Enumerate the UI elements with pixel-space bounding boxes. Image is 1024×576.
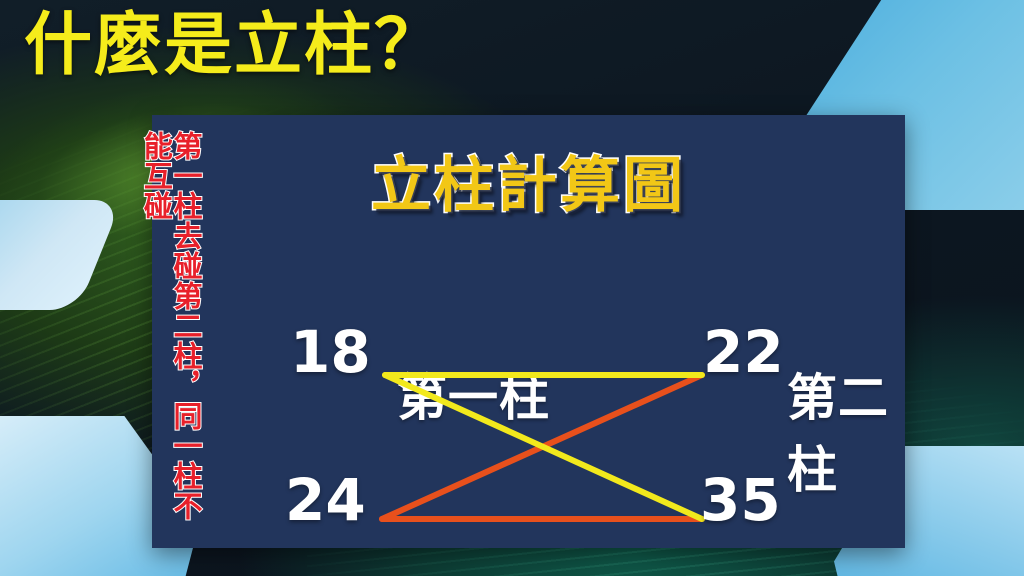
value-top-right: 22 <box>703 318 784 386</box>
column-header-first: 第一柱 <box>397 358 550 430</box>
value-bottom-right: 35 <box>700 466 781 534</box>
panel-title: 立柱計算圖 <box>152 137 905 224</box>
slide-canvas: 什麼是立柱？ 第一柱去碰第二柱，同一柱不能互碰 立柱計算圖 第一柱 第二柱 18… <box>0 0 1024 576</box>
slide-headline: 什麼是立柱？ <box>24 8 444 84</box>
column-header-second: 第二柱 <box>787 358 905 502</box>
diagram-panel: 第一柱去碰第二柱，同一柱不能互碰 立柱計算圖 第一柱 第二柱 <box>152 115 905 548</box>
value-top-left: 18 <box>290 318 371 386</box>
value-bottom-left: 24 <box>285 466 366 534</box>
